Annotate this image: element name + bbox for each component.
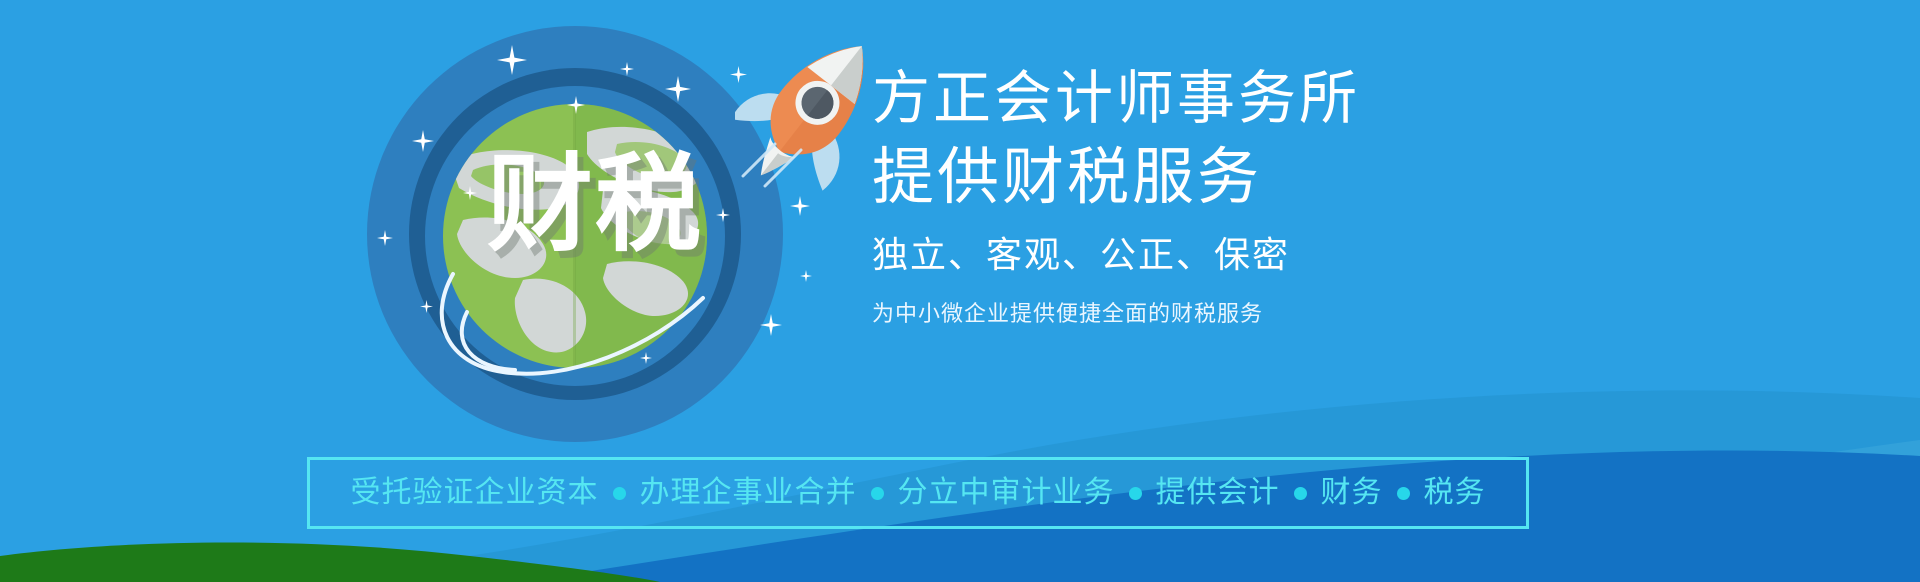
sparkle-icon: [497, 45, 527, 75]
headline-primary: 方正会计师事务所: [872, 62, 1512, 134]
service-item: 提供会计: [1156, 478, 1280, 508]
service-separator-dot: [1397, 487, 1410, 500]
sparkle-icon: [420, 300, 433, 313]
sparkle-icon: [412, 130, 434, 152]
sparkle-icon: [665, 76, 691, 102]
tagline: 为中小微企业提供便捷全面的财税服务: [872, 298, 1512, 332]
sparkle-icon: [790, 196, 810, 216]
sparkle-icon: [760, 314, 782, 336]
promo-banner: 财税 方正会计师事务所 提供财税服务 独立、客观、公正、保密 为中小微企业提供便…: [0, 0, 1920, 582]
sparkle-icon: [567, 96, 585, 114]
rocket-icon: [735, 18, 895, 193]
logo-wordmark: 财税: [487, 152, 703, 258]
headline-secondary: 提供财税服务: [872, 136, 1512, 218]
services-list: 受托验证企业资本办理企事业合并分立中审计业务提供会计财务税务: [351, 478, 1486, 508]
sparkle-icon: [620, 62, 634, 76]
service-item: 分立中审计业务: [898, 478, 1115, 508]
value-props: 独立、客观、公正、保密: [872, 230, 1512, 282]
services-bar: 受托验证企业资本办理企事业合并分立中审计业务提供会计财务税务: [307, 457, 1529, 529]
service-separator-dot: [1294, 487, 1307, 500]
rocket-illustration: [735, 18, 895, 193]
sparkle-icon: [463, 186, 477, 200]
service-item: 财务: [1321, 478, 1383, 508]
service-item: 受托验证企业资本: [351, 478, 599, 508]
sparkle-icon: [730, 66, 747, 83]
service-item: 办理企事业合并: [640, 478, 857, 508]
service-item: 税务: [1424, 478, 1486, 508]
service-separator-dot: [613, 487, 626, 500]
service-separator-dot: [871, 487, 884, 500]
sparkle-icon: [640, 352, 652, 364]
sparkle-icon: [800, 270, 812, 282]
sparkle-icon: [716, 208, 730, 222]
headline-block: 方正会计师事务所 提供财税服务 独立、客观、公正、保密 为中小微企业提供便捷全面…: [872, 62, 1512, 332]
service-separator-dot: [1129, 487, 1142, 500]
sparkle-icon: [377, 230, 393, 246]
